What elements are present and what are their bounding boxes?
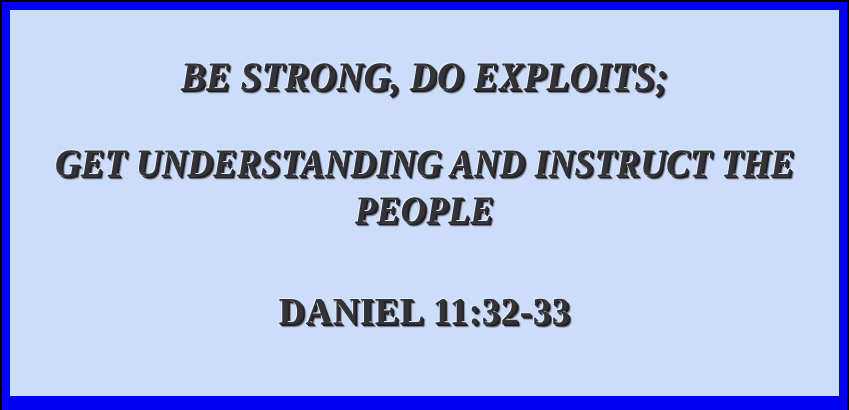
verse-line-2: get understanding and instruct the bbox=[55, 144, 794, 185]
scripture-citation: Daniel 11:32-33 bbox=[278, 290, 570, 334]
slide-canvas: Be strong, do exploits; get understandin… bbox=[10, 10, 839, 396]
verse-text-block: Be strong, do exploits; get understandin… bbox=[10, 10, 839, 232]
verse-line-3: people bbox=[55, 191, 794, 232]
scripture-slide: Be strong, do exploits; get understandin… bbox=[0, 0, 849, 410]
verse-line-1: Be strong, do exploits; bbox=[47, 56, 802, 98]
